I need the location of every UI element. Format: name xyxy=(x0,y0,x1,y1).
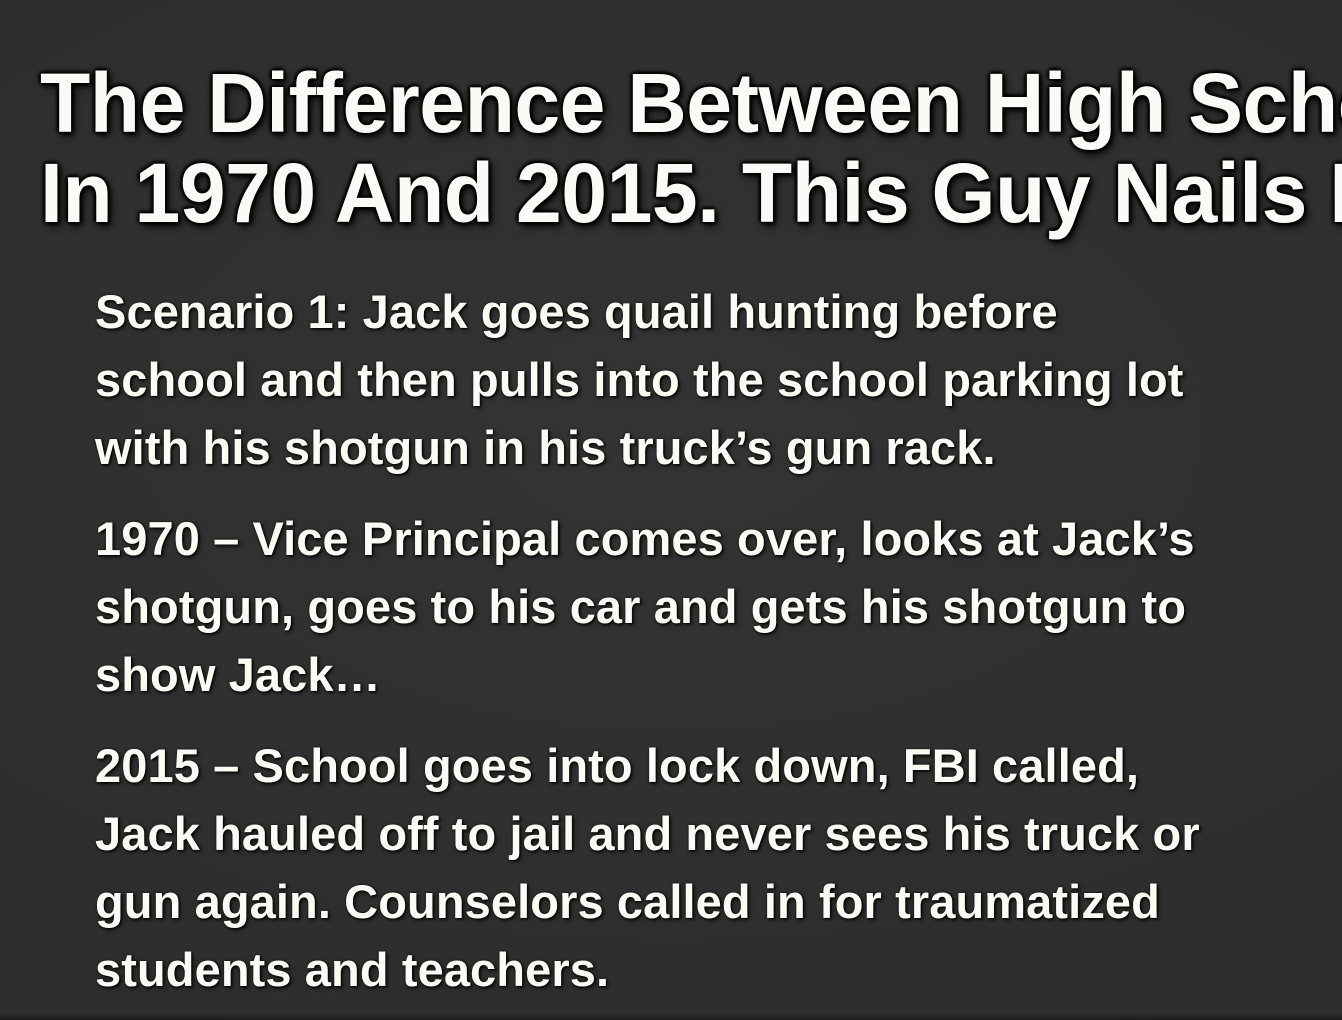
bottom-edge-shadow xyxy=(0,1010,1342,1020)
page-title-line-1: The Difference Between High School xyxy=(40,58,1277,148)
page-title: The Difference Between High School In 19… xyxy=(40,58,1277,238)
body-text-block: Scenario 1: Jack goes quail hunting befo… xyxy=(95,278,1220,1004)
paragraph-year-1970: 1970 – Vice Principal comes over, looks … xyxy=(95,505,1220,709)
meme-poster: The Difference Between High School In 19… xyxy=(0,0,1342,1020)
paragraph-year-2015: 2015 – School goes into lock down, FBI c… xyxy=(95,732,1220,1004)
page-title-line-2: In 1970 And 2015. This Guy Nails It. xyxy=(40,148,1277,238)
paragraph-scenario-1: Scenario 1: Jack goes quail hunting befo… xyxy=(95,278,1220,482)
